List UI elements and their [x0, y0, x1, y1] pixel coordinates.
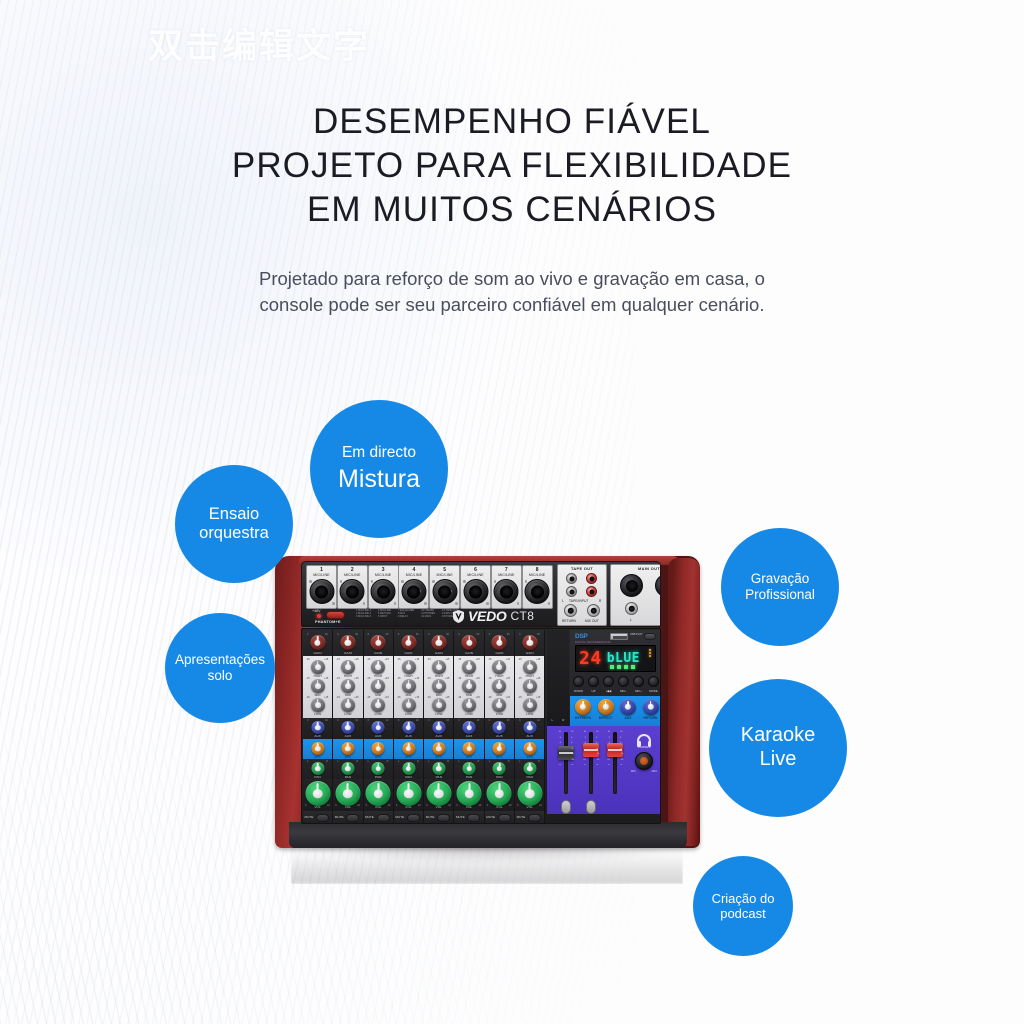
fader-mute-main-l[interactable]	[586, 800, 596, 814]
mute-button-5[interactable]	[437, 814, 450, 822]
mid-eq-knob-8[interactable]	[523, 679, 537, 693]
knob-scale-tick: L	[337, 760, 338, 763]
dsp-button-mic[interactable]	[618, 676, 629, 687]
knob-scale-tick: +15	[324, 677, 328, 680]
knob-scale-tick: 0	[398, 719, 399, 722]
knob-scale-tick: 0	[366, 804, 367, 807]
pan-row: PANLR	[515, 759, 544, 779]
bubble-recording-line-1: Gravação	[751, 571, 810, 587]
headline-block: DESEMPENHO FIÁVEL PROJETO PARA FLEXIBILI…	[0, 100, 1024, 232]
knob-scale-tick: 10	[357, 804, 360, 807]
mid-eq-knob-1[interactable]	[311, 679, 325, 693]
main-out-trs-l[interactable]	[625, 602, 638, 615]
display-segment-bars	[610, 665, 635, 669]
gain-knob-4[interactable]	[401, 635, 416, 650]
aux-label: AUX	[515, 734, 544, 738]
mic-line-input-2[interactable]: 2MIC/LINE	[337, 565, 368, 609]
mixer-right-side-panel	[668, 558, 700, 846]
vol-knob-3[interactable]	[366, 781, 391, 806]
low-eq-knob-2[interactable]	[341, 698, 355, 712]
knob-scale-tick: -15	[367, 677, 371, 680]
high-eq-knob-7[interactable]	[492, 660, 506, 674]
eq-label-low: LOW	[424, 712, 453, 716]
input-channel-type-label: MIC/LINE	[461, 573, 490, 578]
low-eq-knob-1[interactable]	[311, 698, 325, 712]
efx-knob-7[interactable]	[493, 742, 506, 755]
gain-knob-1[interactable]	[310, 635, 325, 650]
channel-strip-8: GAIN060HIGH-15+15MID-15+15LOW-15+15AUX01…	[515, 630, 545, 824]
mute-label: MUTE	[365, 815, 374, 819]
gain-label: GAIN	[485, 651, 514, 655]
pan-knob-5[interactable]	[432, 762, 445, 775]
gain-knob-5[interactable]	[431, 635, 446, 650]
eq-row: HIGH-15+15MID-15+15LOW-15+15	[424, 656, 453, 718]
high-eq-knob-5[interactable]	[432, 660, 446, 674]
gain-row: GAIN060	[364, 630, 393, 656]
mid-eq-knob-6[interactable]	[462, 679, 476, 693]
master-fader-zone: 10 5 0 -5 -10 -20 -∞ 10 5 0 -5 -10 -20 -…	[547, 726, 661, 814]
led-level-meters: L R	[547, 630, 569, 726]
channel-strip-7: GAIN060HIGH-15+15MID-15+15LOW-15+15AUX01…	[485, 630, 515, 824]
efx-knob-3[interactable]	[372, 742, 385, 755]
pan-label: PAN	[333, 775, 362, 779]
knob-scale-tick: 0	[458, 633, 459, 636]
knob-scale-tick: 0	[489, 633, 490, 636]
knob-scale-tick: L	[307, 760, 308, 763]
knob-scale-tick: 0	[428, 719, 429, 722]
knob-scale-tick: 10	[388, 804, 391, 807]
knob-scale-tick: -15	[457, 677, 461, 680]
phones-knob-max-label: MAX	[652, 770, 657, 773]
knob-scale-tick: -15	[427, 677, 431, 680]
fader-track-tape	[564, 732, 568, 794]
vol-row: VOL010	[485, 779, 514, 811]
jack-screw	[340, 580, 343, 583]
gain-knob-8[interactable]	[522, 635, 537, 650]
knob-scale-tick: 10	[448, 804, 451, 807]
input-channel-type-label: MIC/LINE	[307, 573, 336, 578]
high-eq-knob-6[interactable]	[462, 660, 476, 674]
xlr-combo-jack[interactable]	[494, 579, 519, 604]
silkscreen-column: 7 EQUALIZER 8 AUX 9 DELAY	[398, 609, 414, 624]
phantom-power-button[interactable]	[326, 611, 345, 619]
mute-row: MUTE	[515, 811, 544, 824]
low-eq-knob-5[interactable]	[432, 698, 446, 712]
main-out-xlr-l[interactable]	[620, 574, 643, 597]
vol-knob-5[interactable]	[426, 781, 451, 806]
mid-eq-knob-4[interactable]	[402, 679, 416, 693]
mic-line-input-6[interactable]: 6MIC/LINE	[460, 565, 491, 609]
eq-label-low: LOW	[303, 712, 332, 716]
mid-eq-knob-7[interactable]	[492, 679, 506, 693]
eq-label-low: LOW	[454, 712, 483, 716]
knob-scale-tick: +15	[385, 677, 389, 680]
knob-scale-tick: 60	[325, 633, 328, 636]
mute-button-4[interactable]	[407, 814, 420, 822]
high-eq-knob-8[interactable]	[523, 660, 537, 674]
vol-knob-7[interactable]	[487, 781, 512, 806]
knob-scale-tick: +15	[506, 696, 510, 699]
dsp-led-display: 24 bLUE	[575, 645, 656, 672]
pan-knob-6[interactable]	[463, 762, 476, 775]
knob-scale-tick: 0	[398, 633, 399, 636]
usb-port-label: USB PLAY	[630, 633, 643, 636]
tape-out-jack-l[interactable]	[566, 573, 577, 584]
silkscreen-column: 10 USB/SD 11 PHONES 12 MAIN	[421, 609, 435, 624]
efx-label: EFX	[364, 755, 393, 759]
dsp-button-[interactable]	[603, 676, 614, 687]
main-out-label-l: L	[630, 618, 632, 622]
knob-scale-tick: 60	[386, 633, 389, 636]
knob-scale-tick: R	[387, 760, 389, 763]
efx-row: EFX	[303, 739, 332, 759]
mute-button-3[interactable]	[377, 814, 390, 822]
xlr-combo-jack[interactable]	[371, 579, 396, 604]
mute-button-6[interactable]	[467, 814, 480, 822]
knob-scale-tick: L	[428, 760, 429, 763]
gain-label: GAIN	[454, 651, 483, 655]
knob-scale-tick: +15	[475, 658, 479, 661]
mic-line-input-5[interactable]: 5MIC/LINE	[429, 565, 460, 609]
mute-row: MUTE	[394, 811, 423, 824]
fx-knob-label: RETURN	[640, 716, 662, 720]
knob-scale-tick: 0	[335, 804, 336, 807]
knob-scale-tick: 10	[355, 719, 358, 722]
jack-screw	[332, 602, 335, 605]
gain-row: GAIN060	[303, 630, 332, 656]
gain-knob-3[interactable]	[371, 635, 386, 650]
jack-screw	[486, 602, 489, 605]
knob-scale-tick: -15	[427, 696, 431, 699]
knob-scale-tick: 0	[519, 633, 520, 636]
knob-scale-tick: 0	[489, 719, 490, 722]
pan-row: PANLR	[454, 759, 483, 779]
dsp-logo: DSP	[575, 633, 587, 640]
input-channel-type-label: MIC/LINE	[430, 573, 459, 578]
mid-eq-knob-2[interactable]	[341, 679, 355, 693]
eq-row: HIGH-15+15MID-15+15LOW-15+15	[333, 656, 362, 718]
knob-scale-tick: 10	[478, 804, 481, 807]
pan-row: PANLR	[364, 759, 393, 779]
fx-knob-effect[interactable]	[598, 699, 614, 715]
channel-strip-2: GAIN060HIGH-15+15MID-15+15LOW-15+15AUX01…	[333, 630, 363, 824]
aux-label: AUX	[333, 734, 362, 738]
xlr-combo-jack[interactable]	[463, 579, 488, 604]
dsp-button-mic[interactable]	[633, 676, 644, 687]
knob-scale-tick: +15	[415, 696, 419, 699]
bubble-solo-line-1: Apresentações	[175, 652, 265, 668]
aux-knob-6[interactable]	[463, 721, 476, 734]
knob-scale-tick: R	[356, 760, 358, 763]
high-eq-knob-2[interactable]	[341, 660, 355, 674]
knob-scale-tick: +15	[385, 658, 389, 661]
low-eq-knob-6[interactable]	[462, 698, 476, 712]
mic-line-input-1[interactable]: 1MIC/LINE	[306, 565, 337, 609]
knob-scale-tick: +15	[475, 677, 479, 680]
xlr-combo-jack[interactable]	[340, 579, 365, 604]
mute-row: MUTE	[485, 811, 514, 824]
mic-line-input-3[interactable]: 3MIC/LINE	[368, 565, 399, 609]
channel-strip-5: GAIN060HIGH-15+15MID-15+15LOW-15+15AUX01…	[424, 630, 454, 824]
high-eq-knob-1[interactable]	[311, 660, 325, 674]
eq-row: HIGH-15+15MID-15+15LOW-15+15	[454, 656, 483, 718]
mic-line-input-8[interactable]: 8MIC/LINE	[522, 565, 553, 609]
knob-scale-tick: +15	[324, 696, 328, 699]
display-mode-word: bLUE	[607, 651, 640, 666]
tape-out-jack-r[interactable]	[586, 573, 597, 584]
vol-row: VOL010	[454, 779, 483, 811]
efx-label: EFX	[485, 755, 514, 759]
mute-label: MUTE	[486, 815, 495, 819]
knob-scale-tick: -15	[306, 696, 310, 699]
aux-knob-7[interactable]	[493, 721, 506, 734]
knob-scale-tick: 10	[327, 804, 330, 807]
vol-row: VOL010	[515, 779, 544, 811]
efx-knob-4[interactable]	[402, 742, 415, 755]
xlr-combo-jack[interactable]	[401, 579, 426, 604]
low-eq-knob-4[interactable]	[402, 698, 416, 712]
vol-knob-4[interactable]	[396, 781, 421, 806]
efx-label: EFX	[303, 755, 332, 759]
ir-receiver-button[interactable]	[644, 633, 656, 640]
fx-knob-group-aux: AUX	[617, 699, 639, 720]
pan-knob-1[interactable]	[311, 762, 324, 775]
efx-row: EFX	[515, 739, 544, 759]
mute-label: MUTE	[456, 815, 465, 819]
phantom-led-indicator	[317, 614, 321, 618]
bubble-karaoke-line-2: Live	[760, 748, 797, 772]
mic-line-input-4[interactable]: 4MIC/LINE	[398, 565, 429, 609]
fx-knob-group-return: RETURN	[640, 699, 662, 720]
efx-knob-2[interactable]	[341, 742, 354, 755]
efx-knob-6[interactable]	[463, 742, 476, 755]
knob-scale-tick: L	[458, 760, 459, 763]
pan-knob-7[interactable]	[493, 762, 506, 775]
low-eq-knob-8[interactable]	[523, 698, 537, 712]
knob-scale-tick: -15	[306, 677, 310, 680]
mid-eq-knob-5[interactable]	[432, 679, 446, 693]
tape-input-label: TAPE/INPUT	[569, 599, 589, 603]
fx-knob-hyperps[interactable]	[575, 699, 591, 715]
pan-row: PANLR	[333, 759, 362, 779]
dsp-button-down[interactable]	[573, 676, 584, 687]
pan-row: PANLR	[394, 759, 423, 779]
aux-knob-4[interactable]	[402, 721, 415, 734]
mute-row: MUTE	[424, 811, 453, 824]
gain-knob-6[interactable]	[462, 635, 477, 650]
eq-row: HIGH-15+15MID-15+15LOW-15+15	[303, 656, 332, 718]
aux-row: AUX010	[394, 718, 423, 739]
pan-knob-4[interactable]	[402, 762, 415, 775]
knob-scale-tick: R	[326, 760, 328, 763]
bubble-recording-line-2: Profissional	[745, 587, 815, 603]
jack-screw	[363, 602, 366, 605]
knob-scale-tick: 0	[337, 719, 338, 722]
fader-mute-tape[interactable]	[561, 800, 571, 814]
gain-knob-7[interactable]	[492, 635, 507, 650]
mixer-front-edge	[289, 822, 687, 848]
dsp-button-label: DOWN	[573, 689, 584, 693]
mid-eq-knob-3[interactable]	[371, 679, 385, 693]
brand-lockup: VEDO CT8	[453, 608, 534, 624]
mute-row: MUTE	[333, 811, 362, 824]
aux-knob-2[interactable]	[341, 721, 354, 734]
use-case-bubble-rehearsal: Ensaio orquestra	[175, 465, 293, 583]
vol-knob-8[interactable]	[517, 781, 542, 806]
efx-knob-5[interactable]	[432, 742, 445, 755]
xlr-combo-jack[interactable]	[525, 579, 550, 604]
knob-scale-tick: 0	[519, 719, 520, 722]
usb-port[interactable]	[610, 633, 628, 640]
phones-knob-min-label: MIN	[631, 770, 636, 773]
phones-level-knob[interactable]	[635, 752, 653, 770]
knob-scale-tick: 0	[305, 804, 306, 807]
dsp-button-label: MODE	[648, 689, 659, 693]
knob-scale-tick: L	[489, 760, 490, 763]
efx-knob-1[interactable]	[311, 742, 324, 755]
gain-label: GAIN	[364, 651, 393, 655]
knob-scale-tick: -15	[427, 658, 431, 661]
knob-scale-tick: 10	[446, 719, 449, 722]
knob-scale-tick: R	[508, 760, 510, 763]
main-out-xlr-r[interactable]	[655, 574, 661, 597]
silkscreen-column: 1 MIC/LINE 1 2 MIC/LINE 2 3 MIC/LINE 3	[356, 609, 371, 624]
knob-scale-tick: 0	[456, 804, 457, 807]
high-eq-knob-4[interactable]	[402, 660, 416, 674]
aux-label: AUX	[303, 734, 332, 738]
channel-strip-bank: GAIN060HIGH-15+15MID-15+15LOW-15+15AUX01…	[303, 630, 546, 824]
phones-icon-label: PHONES	[629, 745, 659, 749]
return-jack[interactable]	[564, 604, 577, 617]
fx-knob-group-effect: EFFECT	[595, 699, 617, 720]
headline-line-1: DESEMPENHO FIÁVEL	[0, 100, 1024, 144]
fx-knob-label: HYPERPS	[572, 716, 594, 720]
knob-scale-tick: +15	[324, 658, 328, 661]
fx-knob-return[interactable]	[643, 699, 659, 715]
gain-label: GAIN	[333, 651, 362, 655]
low-eq-knob-7[interactable]	[492, 698, 506, 712]
gain-row: GAIN060	[454, 630, 483, 656]
knob-scale-tick: 0	[487, 804, 488, 807]
pan-label: PAN	[515, 775, 544, 779]
knob-scale-tick: 60	[446, 633, 449, 636]
knob-scale-tick: L	[368, 760, 369, 763]
knob-scale-tick: 0	[458, 719, 459, 722]
headphones-icon	[637, 734, 651, 743]
tape-in-jack-r[interactable]	[586, 586, 597, 597]
channel-strip-4: GAIN060HIGH-15+15MID-15+15LOW-15+15AUX01…	[394, 630, 424, 824]
aux-knob-1[interactable]	[311, 721, 324, 734]
eq-row: HIGH-15+15MID-15+15LOW-15+15	[364, 656, 393, 718]
bubble-rehearsal-line-1: Ensaio	[209, 505, 259, 524]
vol-knob-2[interactable]	[335, 781, 360, 806]
vol-knob-1[interactable]	[305, 781, 330, 806]
pan-row: PANLR	[424, 759, 453, 779]
tape-in-jack-l[interactable]	[566, 586, 577, 597]
channel-strip-1: GAIN060HIGH-15+15MID-15+15LOW-15+15AUX01…	[303, 630, 333, 824]
fader-scale-main-r-right: 10 5 0 -5 -10 -20 -∞	[620, 730, 631, 769]
vol-knob-6[interactable]	[457, 781, 482, 806]
meter-label-l: L	[552, 718, 554, 722]
aux-label: AUX	[454, 734, 483, 738]
knob-scale-tick: 60	[355, 633, 358, 636]
pan-knob-3[interactable]	[372, 762, 385, 775]
aux-row: AUX010	[485, 718, 514, 739]
fx-knob-label: EFFECT	[595, 716, 617, 720]
fx-knob-aux[interactable]	[620, 699, 636, 715]
aux-label: AUX	[485, 734, 514, 738]
dsp-button-label: |◀◀	[603, 689, 614, 693]
return-label: RETURN	[562, 619, 576, 623]
fader-track-main-r	[613, 732, 617, 794]
mixer-control-surface: GAIN060HIGH-15+15MID-15+15LOW-15+15AUX01…	[301, 628, 661, 824]
mute-button-2[interactable]	[346, 814, 359, 822]
knob-scale-tick: 10	[537, 719, 540, 722]
aux-knob-8[interactable]	[523, 721, 536, 734]
xlr-combo-jack[interactable]	[432, 579, 457, 604]
mix-out-jack[interactable]	[587, 604, 600, 617]
mute-button-7[interactable]	[498, 814, 511, 822]
efx-row: EFX	[333, 739, 362, 759]
jack-screw	[424, 602, 427, 605]
aux-knob-5[interactable]	[432, 721, 445, 734]
knob-scale-tick: 60	[416, 633, 419, 636]
fx-knob-label: AUX	[617, 716, 639, 720]
gain-knob-2[interactable]	[340, 635, 355, 650]
knob-scale-tick: 10	[507, 719, 510, 722]
bubble-live-mix-line-1: Em directo	[342, 444, 416, 462]
mic-line-input-7[interactable]: 7MIC/LINE	[491, 565, 522, 609]
bubble-podcast-line-2: podcast	[720, 906, 766, 921]
knob-scale-tick: -15	[306, 658, 310, 661]
xlr-combo-jack[interactable]	[309, 579, 334, 604]
main-out-trs-r[interactable]	[660, 602, 661, 615]
knob-scale-tick: 0	[307, 633, 308, 636]
knob-scale-tick: 0	[307, 719, 308, 722]
jack-screw	[548, 602, 551, 605]
aux-knob-3[interactable]	[372, 721, 385, 734]
dsp-button-label-row: DOWNUP|◀◀MIC−MIC+MODE	[573, 689, 659, 693]
input-channel-type-label: MIC/LINE	[399, 573, 428, 578]
gain-row: GAIN060	[394, 630, 423, 656]
aux-label: AUX	[394, 734, 423, 738]
knob-scale-tick: +15	[506, 677, 510, 680]
knob-scale-tick: -15	[518, 696, 522, 699]
mute-button-8[interactable]	[528, 814, 541, 822]
dsp-button-mode[interactable]	[648, 676, 659, 687]
knob-scale-tick: 10	[418, 804, 421, 807]
dsp-button-up[interactable]	[588, 676, 599, 687]
knob-scale-tick: +15	[354, 658, 358, 661]
eq-label-low: LOW	[515, 712, 544, 716]
knob-scale-tick: 10	[539, 804, 542, 807]
knob-scale-tick: 0	[428, 633, 429, 636]
low-eq-knob-3[interactable]	[371, 698, 385, 712]
knob-scale-tick: -15	[367, 696, 371, 699]
knob-scale-tick: -15	[336, 658, 340, 661]
knob-scale-tick: R	[447, 760, 449, 763]
high-eq-knob-3[interactable]	[371, 660, 385, 674]
efx-knob-8[interactable]	[523, 742, 536, 755]
mute-button-1[interactable]	[316, 814, 329, 822]
pan-knob-8[interactable]	[523, 762, 536, 775]
knob-scale-tick: R	[477, 760, 479, 763]
dsp-button-label: UP	[588, 689, 599, 693]
pan-knob-2[interactable]	[341, 762, 354, 775]
tape-in-label-r: R	[599, 599, 601, 603]
mute-row: MUTE	[364, 811, 393, 824]
efx-row: EFX	[364, 739, 393, 759]
